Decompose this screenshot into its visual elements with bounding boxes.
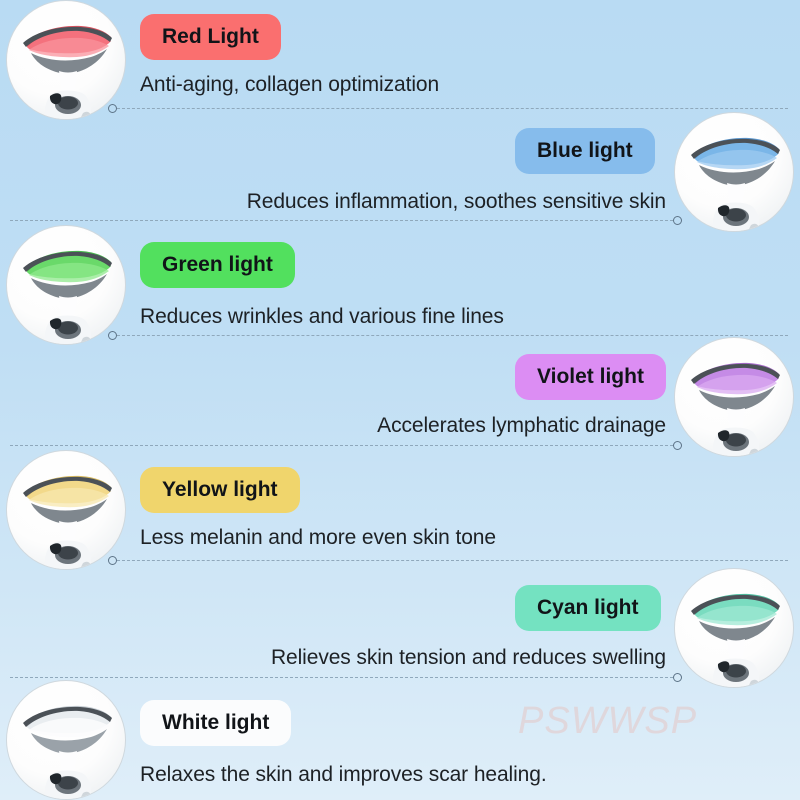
mode-description-cyan: Relieves skin tension and reduces swelli… [271, 646, 666, 670]
connector-dots [117, 560, 788, 561]
device-image-red [6, 0, 126, 120]
device-illustration-yellow [7, 451, 126, 570]
connector-knob [673, 673, 682, 682]
connector-dots [10, 445, 673, 446]
mode-pill-cyan[interactable]: Cyan light [515, 585, 661, 631]
device-image-blue [674, 112, 794, 232]
device-image-green [6, 225, 126, 345]
mode-pill-white[interactable]: White light [140, 700, 291, 746]
connector-dots [10, 220, 673, 221]
connector-line-cyan [10, 673, 682, 682]
device-illustration-blue [675, 113, 794, 232]
device-image-white [6, 680, 126, 800]
device-image-cyan [674, 568, 794, 688]
mode-pill-green[interactable]: Green light [140, 242, 295, 288]
device-image-violet [674, 337, 794, 457]
mode-pill-label: Blue light [537, 139, 633, 163]
connector-line-red [108, 104, 788, 113]
mode-pill-red[interactable]: Red Light [140, 14, 281, 60]
mode-pill-label: Yellow light [162, 478, 278, 502]
mode-description-violet: Accelerates lymphatic drainage [377, 414, 666, 438]
connector-knob [108, 104, 117, 113]
mode-pill-blue[interactable]: Blue light [515, 128, 655, 174]
connector-dots [10, 677, 673, 678]
connector-line-blue [10, 216, 682, 225]
device-illustration-green [7, 226, 126, 345]
mode-pill-yellow[interactable]: Yellow light [140, 467, 300, 513]
device-illustration-red [7, 1, 126, 120]
device-illustration-white [7, 681, 126, 800]
connector-knob [673, 216, 682, 225]
connector-dots [117, 108, 788, 109]
device-image-yellow [6, 450, 126, 570]
mode-description-red: Anti-aging, collagen optimization [140, 73, 439, 97]
device-illustration-cyan [675, 569, 794, 688]
connector-line-yellow [108, 556, 788, 565]
connector-knob [673, 441, 682, 450]
mode-pill-label: Cyan light [537, 596, 639, 620]
device-illustration-violet [675, 338, 794, 457]
infographic-canvas: PSWWSP Red Light Anti-aging, collagen op… [0, 0, 800, 800]
mode-pill-label: Green light [162, 253, 273, 277]
mode-pill-violet[interactable]: Violet light [515, 354, 666, 400]
mode-pill-label: Red Light [162, 25, 259, 49]
connector-knob [108, 331, 117, 340]
mode-description-green: Reduces wrinkles and various fine lines [140, 305, 504, 329]
connector-line-green [108, 331, 788, 340]
connector-line-violet [10, 441, 682, 450]
mode-pill-label: Violet light [537, 365, 644, 389]
connector-dots [117, 335, 788, 336]
mode-pill-label: White light [162, 711, 269, 735]
connector-knob [108, 556, 117, 565]
mode-description-white: Relaxes the skin and improves scar heali… [140, 763, 547, 787]
mode-description-blue: Reduces inflammation, soothes sensitive … [247, 190, 666, 214]
mode-description-yellow: Less melanin and more even skin tone [140, 526, 496, 550]
watermark: PSWWSP [518, 700, 697, 743]
